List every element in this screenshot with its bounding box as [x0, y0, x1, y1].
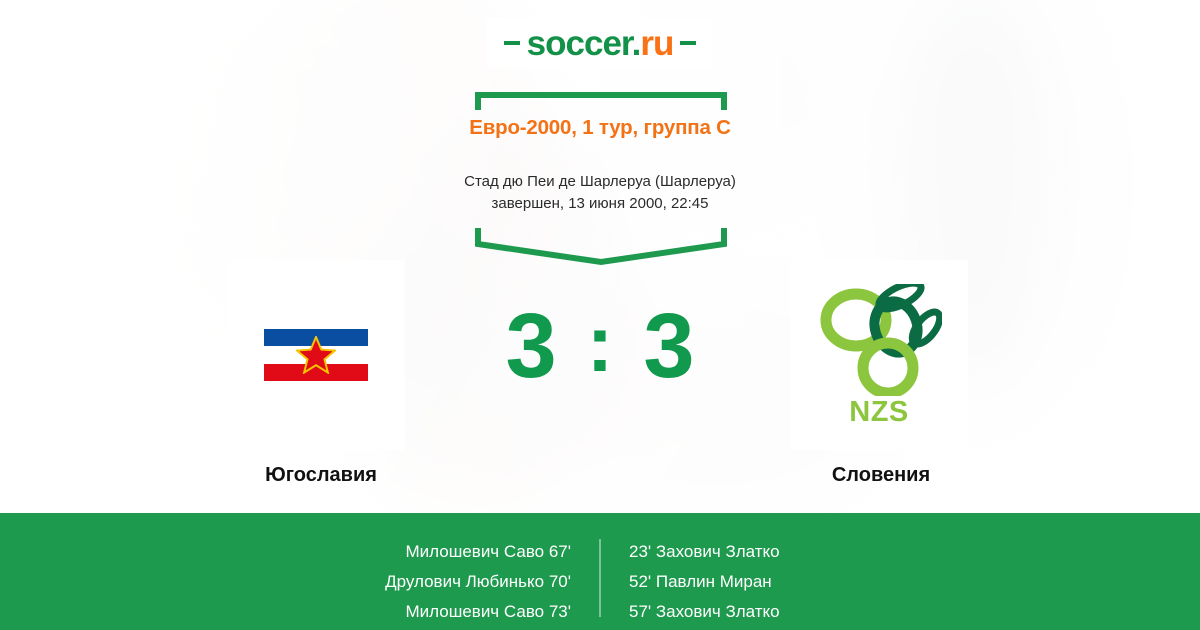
away-team-name: Словения	[731, 464, 1031, 487]
home-team-name: Югославия	[171, 464, 471, 487]
goal-row: 23' Захович Златко	[629, 537, 931, 567]
away-score: 3	[643, 300, 694, 392]
goal-scorers-footer: Милошевич Саво 67' Друлович Любинько 70'…	[0, 513, 1200, 630]
away-team-crest-card[interactable]: NZS	[790, 260, 968, 450]
nzs-emblem-icon	[816, 284, 942, 396]
logo-dash-right-icon	[680, 41, 696, 45]
yugoslavia-flag-icon	[264, 329, 368, 381]
logo-text-orange: ru	[640, 24, 673, 63]
goal-row: Друлович Любинько 70'	[269, 567, 571, 597]
nzs-wordmark: NZS	[849, 398, 909, 427]
home-score: 3	[506, 300, 557, 392]
goal-row: Милошевич Саво 73'	[269, 597, 571, 627]
score-separator: :	[587, 304, 614, 384]
home-team-crest-card[interactable]	[227, 260, 405, 450]
logo-dash-left-icon	[504, 41, 520, 45]
goal-row: Милошевич Саво 67'	[269, 537, 571, 567]
home-goals-list: Милошевич Саво 67' Друлович Любинько 70'…	[269, 537, 599, 627]
goal-row: 52' Павлин Миран	[629, 567, 931, 597]
goal-row: 57' Захович Златко	[629, 597, 931, 627]
venue-label: Стад дю Пеи де Шарлеруа (Шарлеруа)	[400, 171, 800, 193]
logo-text-green: soccer.	[527, 24, 641, 63]
away-goals-list: 23' Захович Златко 52' Павлин Миран 57' …	[601, 537, 931, 627]
tournament-title: Евро-2000, 1 тур, группа C	[420, 116, 780, 140]
match-status: завершен, 13 июня 2000, 22:45	[400, 193, 800, 215]
scoreline: 3 : 3	[420, 300, 780, 392]
site-logo[interactable]: soccer.ru	[487, 18, 713, 68]
